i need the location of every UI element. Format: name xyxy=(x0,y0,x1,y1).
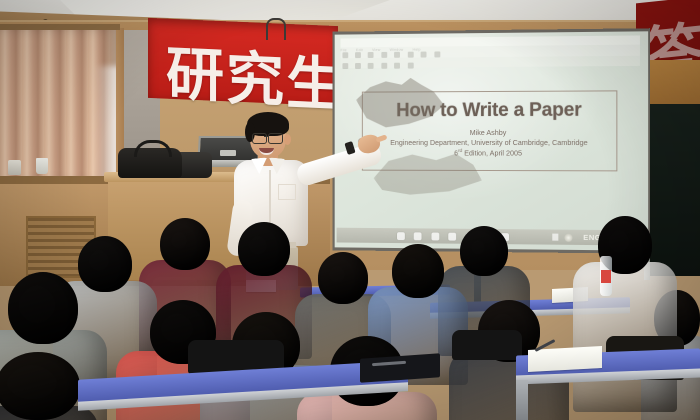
toolbar-icon[interactable] xyxy=(342,63,348,69)
toolbar-icon[interactable] xyxy=(394,63,400,69)
student-plaid-shirt-head xyxy=(318,252,368,304)
student-dark-hair-left-head xyxy=(0,352,80,420)
chair-back xyxy=(452,330,522,360)
slide-edition: 6rd Edition, April 2005 xyxy=(363,148,617,158)
curtain-rod xyxy=(0,24,120,30)
glasses-lens-right xyxy=(268,133,283,144)
presenter-shirt-pocket xyxy=(278,184,296,200)
student-gray-shirt-head xyxy=(78,236,132,292)
taskbar-icon[interactable] xyxy=(431,232,439,240)
student-blue-shirt-head xyxy=(392,244,444,298)
cup xyxy=(36,158,48,174)
toolbar-icon[interactable] xyxy=(355,63,361,69)
student-front-left-glasses-head xyxy=(8,272,78,344)
wall-panel-right xyxy=(648,60,700,106)
taskbar-icon[interactable] xyxy=(397,232,405,240)
glasses-icon xyxy=(252,133,267,144)
tray-volume-icon[interactable] xyxy=(564,233,572,241)
edition-rest: Edition, April 2005 xyxy=(462,148,522,157)
desk-front-right-leg xyxy=(516,380,528,420)
taskbar-icon[interactable] xyxy=(449,232,457,240)
banner-char-1: 研 xyxy=(166,27,224,114)
banner-hook-icon xyxy=(266,18,286,40)
banner-char-2: 究 xyxy=(226,31,284,118)
student-maroon-shirt-head xyxy=(160,218,210,270)
toolbar-icon[interactable] xyxy=(381,63,387,69)
cup-secondary xyxy=(8,160,21,175)
tray-icon[interactable] xyxy=(552,234,558,241)
presenter-ear xyxy=(284,134,291,145)
taskbar-icon[interactable] xyxy=(414,232,422,240)
water-bottle-label xyxy=(601,270,611,283)
app-toolbar-secondary[interactable] xyxy=(340,56,639,68)
red-banner-left: 研 究 生 xyxy=(148,18,338,106)
student-back-center-head xyxy=(460,226,508,276)
classroom-lecture-photo: 研 究 生 答 File Edit View Window Help xyxy=(0,0,700,420)
toolbar-icon[interactable] xyxy=(408,63,414,69)
slide-author: Mike Ashby xyxy=(363,128,617,137)
window-light-glow xyxy=(94,66,116,186)
toolbar-icon[interactable] xyxy=(368,63,374,69)
student-maroon-center-head xyxy=(238,222,290,276)
blackboard xyxy=(648,104,700,276)
glasses-bridge xyxy=(264,136,269,137)
slide-affiliation: Engineering Department, University of Ca… xyxy=(363,138,617,147)
